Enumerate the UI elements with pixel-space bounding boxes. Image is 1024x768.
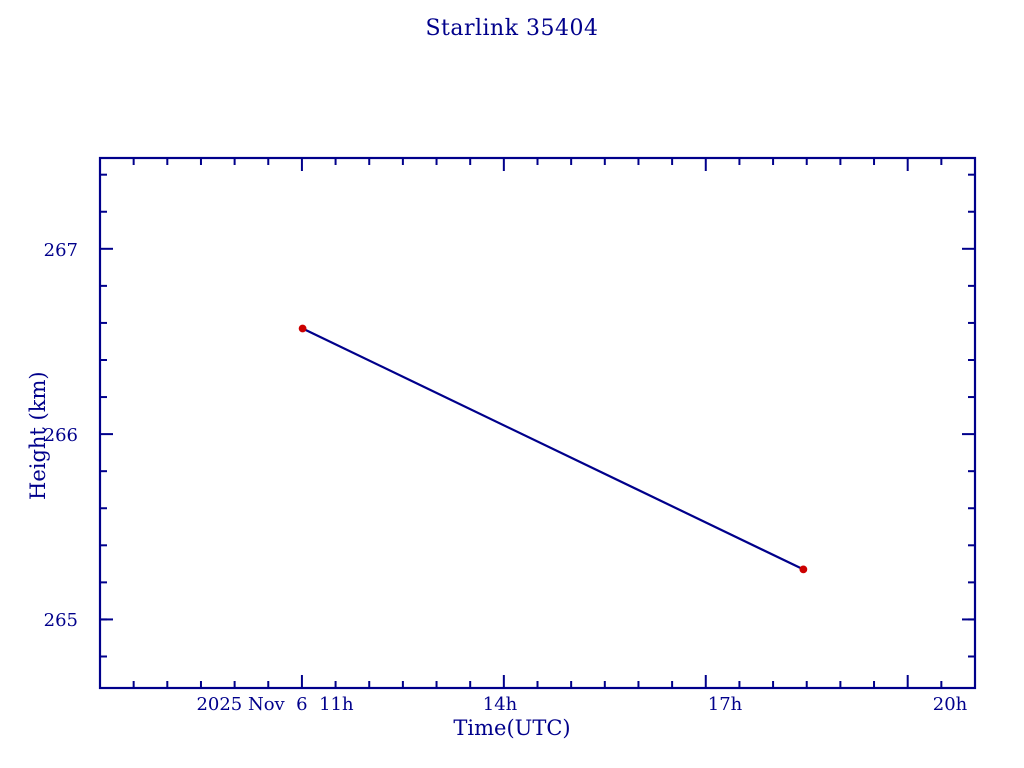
data-series (299, 325, 807, 573)
chart-container: Starlink 35404 Height (km) Time(UTC) 267… (0, 0, 1024, 768)
plot-area (0, 0, 1024, 768)
axes-frame (100, 158, 975, 688)
series-line (303, 328, 804, 569)
axis-ticks (100, 158, 975, 688)
data-point-marker (800, 566, 807, 573)
data-point-marker (299, 325, 306, 332)
